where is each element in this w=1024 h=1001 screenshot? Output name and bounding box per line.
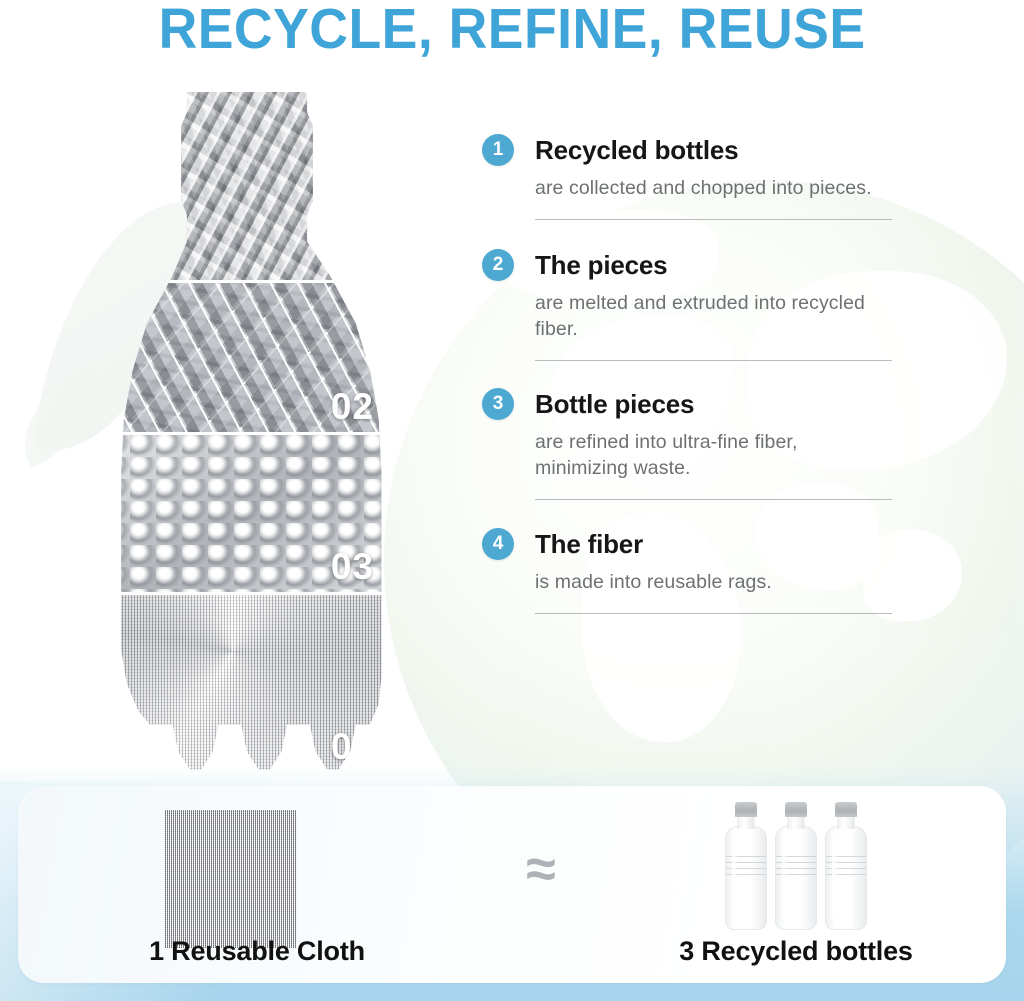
mini-bottle-neck xyxy=(788,815,805,829)
mini-bottle-2 xyxy=(775,802,817,930)
mini-bottle-cap xyxy=(835,802,857,817)
bottle-segment-04: 04 xyxy=(104,592,390,772)
step-item-4: 4 The fiber is made into reusable rags. xyxy=(482,528,892,614)
comparison-card: 1 Reusable Cloth ≈ 3 Recycled bottles xyxy=(18,786,1006,983)
step-title-1: Recycled bottles xyxy=(535,135,738,165)
step-title-2: The pieces xyxy=(535,250,667,280)
mini-bottle-body xyxy=(725,826,767,930)
bottle-segment-number-01: 01 xyxy=(331,234,374,276)
bottle-segment-02: 02 xyxy=(104,280,390,432)
step-divider-4 xyxy=(535,613,892,614)
mini-bottle-3 xyxy=(825,802,867,930)
step-divider-2 xyxy=(535,360,892,361)
step-item-1: 1 Recycled bottles are collected and cho… xyxy=(482,134,892,220)
bottle-segment-03: 03 xyxy=(104,432,390,592)
step-title-3: Bottle pieces xyxy=(535,389,694,419)
bottle-segment-number-04: 04 xyxy=(331,726,374,768)
step-header-4: 4 The fiber xyxy=(482,528,892,560)
step-divider-1 xyxy=(535,219,892,220)
step-body-3: are refined into ultra-fine fiber, minim… xyxy=(535,429,892,481)
bottle-illustration: 01 02 03 04 xyxy=(104,92,390,772)
approximately-equal-icon: ≈ xyxy=(526,842,556,896)
mini-bottle-body xyxy=(775,826,817,930)
step-number-badge-4: 4 xyxy=(482,528,514,560)
step-item-2: 2 The pieces are melted and extruded int… xyxy=(482,249,892,361)
step-header-1: 1 Recycled bottles xyxy=(482,134,892,166)
step-header-3: 3 Bottle pieces xyxy=(482,388,892,420)
comparison-operator: ≈ xyxy=(496,786,586,983)
bottle-segment-01: 01 xyxy=(104,92,390,280)
bottles-caption: 3 Recycled bottles xyxy=(586,936,1006,967)
step-item-3: 3 Bottle pieces are refined into ultra-f… xyxy=(482,388,892,500)
step-header-2: 2 The pieces xyxy=(482,249,892,281)
mini-bottle-neck xyxy=(838,815,855,829)
bottle-segment-number-02: 02 xyxy=(331,386,374,428)
step-number-badge-2: 2 xyxy=(482,249,514,281)
step-body-4: is made into reusable rags. xyxy=(535,569,892,595)
mini-bottle-cap xyxy=(735,802,757,817)
comparison-left: 1 Reusable Cloth xyxy=(18,786,496,983)
page-title: RECYCLE, REFINE, REUSE xyxy=(0,0,1024,60)
mini-bottle-body xyxy=(825,826,867,930)
cloth-caption: 1 Reusable Cloth xyxy=(18,936,496,967)
bottle-silhouette: 01 02 03 04 xyxy=(104,92,390,772)
bottle-segment-number-03: 03 xyxy=(331,546,374,588)
cloth-swatch-image xyxy=(165,810,297,948)
comparison-right: 3 Recycled bottles xyxy=(586,786,1006,983)
step-divider-3 xyxy=(535,499,892,500)
step-body-1: are collected and chopped into pieces. xyxy=(535,175,892,201)
step-number-badge-3: 3 xyxy=(482,388,514,420)
step-number-badge-1: 1 xyxy=(482,134,514,166)
mini-bottle-cap xyxy=(785,802,807,817)
page-title-text: RECYCLE, REFINE, REUSE xyxy=(159,0,866,60)
steps-list: 1 Recycled bottles are collected and cho… xyxy=(482,134,892,614)
recycled-bottles-group xyxy=(586,802,1006,930)
mini-bottle-1 xyxy=(725,802,767,930)
step-title-4: The fiber xyxy=(535,529,643,559)
step-body-2: are melted and extruded into recycled fi… xyxy=(535,290,892,342)
mini-bottle-neck xyxy=(738,815,755,829)
